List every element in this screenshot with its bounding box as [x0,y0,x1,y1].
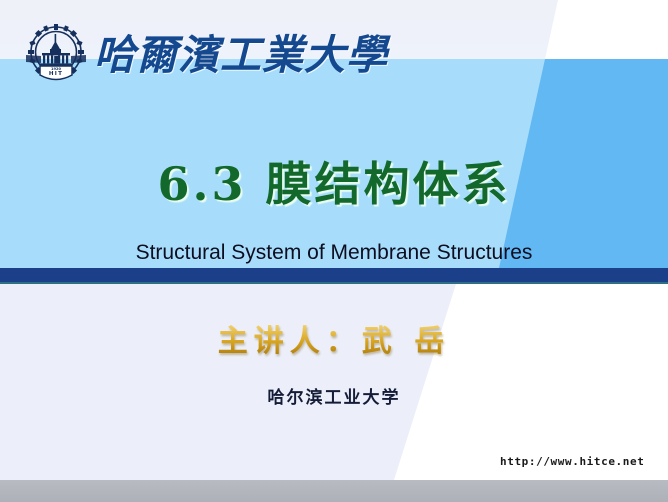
hit-gear-emblem-icon: 1920 HIT [24,22,88,88]
presenter-affiliation: 哈尔滨工业大学 [0,386,668,410]
viewer-bottom-bar [0,480,668,502]
footer-website-url: http://www.hitce.net [500,455,644,469]
slide-main-title: 6.3 膜结构体系 [0,156,668,212]
university-wordmark: 哈爾濱工業大學 [94,26,329,84]
presenter-name: 主讲人：武 岳 [0,322,668,362]
slide-subtitle: Structural System of Membrane Structures [0,240,668,266]
slide-body-region [0,284,668,480]
navy-divider-band [0,268,668,282]
emblem-hit-text: HIT [49,71,63,77]
presentation-slide: 1920 HIT 哈爾濱工業大學 6.3 膜结构体系 Structural Sy… [0,0,668,502]
body-white-wedge [0,284,668,480]
divider-hairline [0,282,668,284]
